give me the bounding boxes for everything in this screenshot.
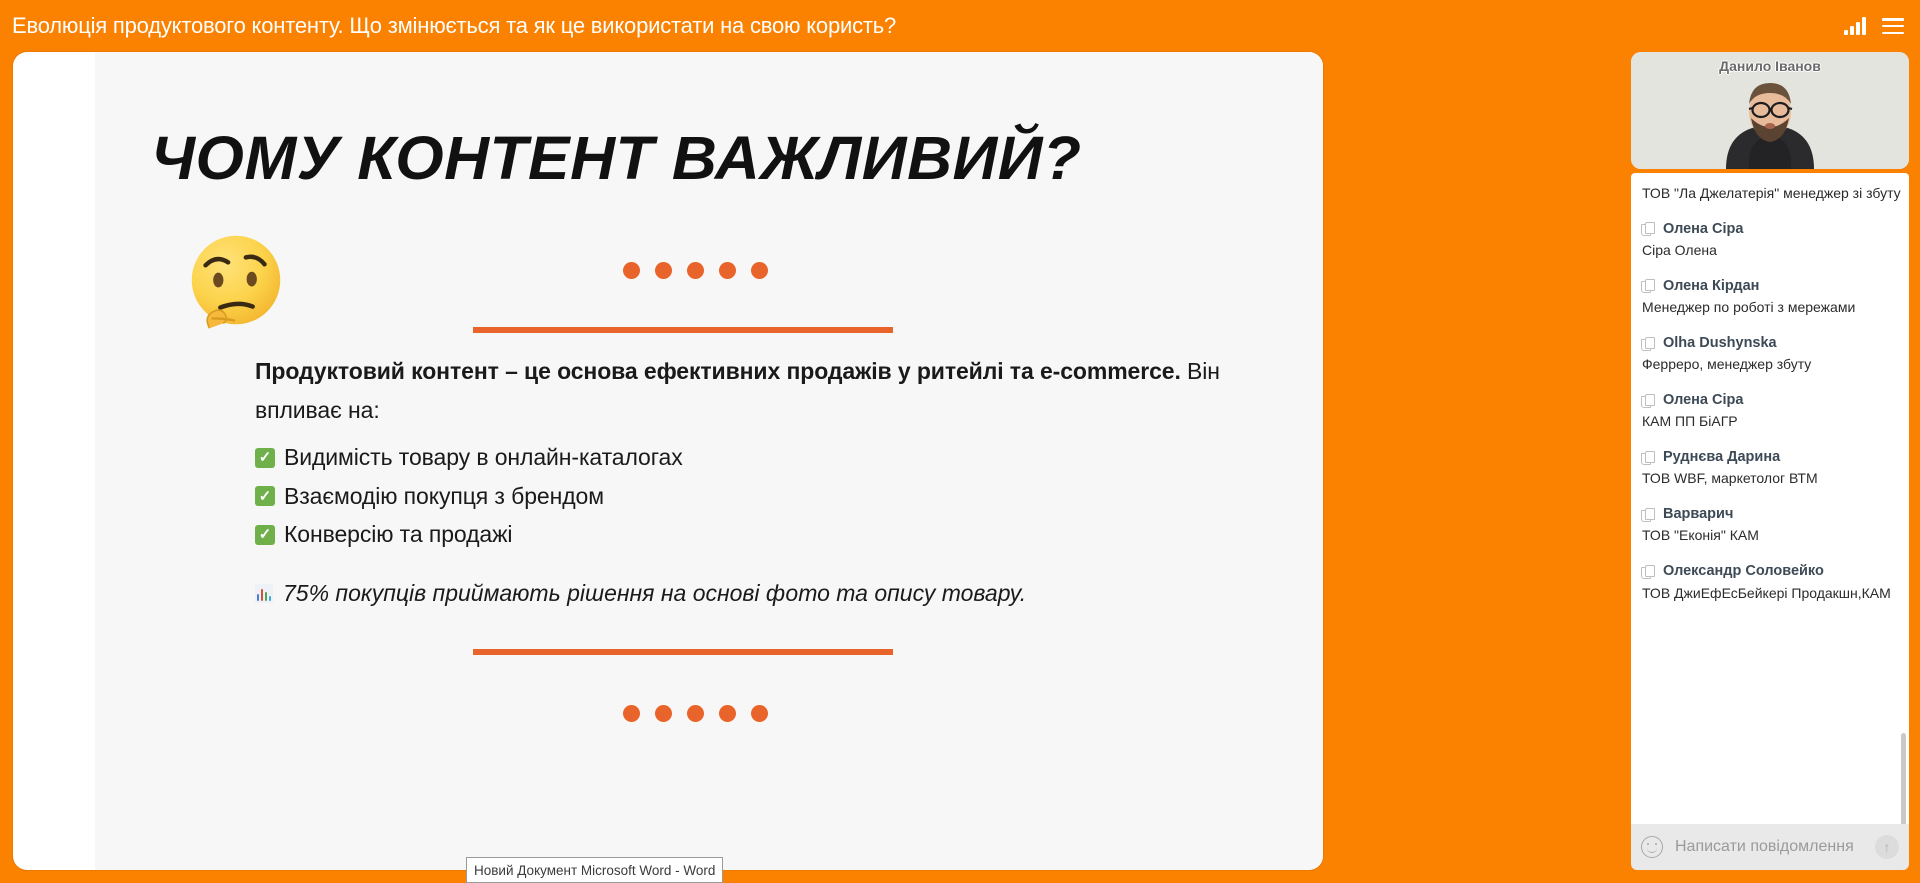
chat-message-header: Олена Сіра — [1641, 221, 1907, 238]
list-item: Олена Кірдан Менеджер по роботі з мережа… — [1641, 278, 1907, 319]
list-item: Олена Сіра Сіра Олена — [1641, 221, 1907, 262]
meeting-title: Еволюція продуктового контенту. Що зміню… — [0, 13, 896, 39]
chat-message-text: Ферреро, менеджер збуту — [1641, 354, 1907, 376]
chat-scrollbar[interactable] — [1901, 733, 1906, 824]
copy-icon[interactable] — [1641, 508, 1654, 522]
chat-message-text: Сіра Олена — [1641, 240, 1907, 262]
list-item: ✓ Взаємодію покупця з брендом — [255, 477, 1255, 516]
chat-author-name: Олена Сіра — [1663, 221, 1743, 238]
chat-message-header: Олександр Соловейко — [1641, 563, 1907, 580]
copy-icon[interactable] — [1641, 565, 1654, 579]
decorative-dots-bottom — [623, 705, 768, 722]
participant-video-tile[interactable]: Данило Іванов — [1631, 52, 1909, 169]
list-item-label: Взаємодію покупця з брендом — [284, 477, 604, 516]
copy-icon[interactable] — [1641, 394, 1654, 408]
slide-lead-bold: Продуктовий контент – це основа ефективн… — [255, 358, 1181, 384]
list-item-label: Видимість товару в онлайн-каталогах — [284, 438, 683, 477]
chat-message-text: ТОВ "Ла Джелатерія" менеджер зі збуту — [1641, 183, 1907, 205]
presentation-stage[interactable]: ЧОМУ КОНТЕНТ ВАЖЛИВИЙ? — [13, 52, 1323, 870]
chat-author-name: Олександр Соловейко — [1663, 563, 1824, 580]
list-item: ✓ Видимість товару в онлайн-каталогах — [255, 438, 1255, 477]
decorative-dots-top — [623, 262, 768, 279]
chat-author-name: Руднєва Дарина — [1663, 449, 1780, 466]
topbar-icon-group — [1844, 17, 1920, 35]
list-item: Олександр Соловейко ТОВ ДжиЕфЕсБейкері П… — [1641, 563, 1907, 604]
list-item: ✓ Конверсію та продажі — [255, 515, 1255, 554]
chat-author-name: Олена Сіра — [1663, 392, 1743, 409]
divider-rule-top — [473, 327, 893, 333]
meeting-top-bar: Еволюція продуктового контенту. Що зміню… — [0, 0, 1920, 52]
divider-rule-bottom — [473, 649, 893, 655]
chat-input[interactable]: Написати повідомлення — [1675, 838, 1863, 856]
list-item: Олена Сіра КАМ ПП БіАГР — [1641, 392, 1907, 433]
list-item: ТОВ "Ла Джелатерія" менеджер зі збуту — [1641, 183, 1907, 205]
chat-message-text: ТОВ "Еконія" КАМ — [1641, 525, 1907, 547]
copy-icon[interactable] — [1641, 337, 1654, 351]
chat-message-header: Olha Dushynska — [1641, 335, 1907, 352]
chat-author-name: Варварич — [1663, 506, 1733, 523]
chat-message-header: Олена Сіра — [1641, 392, 1907, 409]
copy-icon[interactable] — [1641, 279, 1654, 293]
chat-message-text: Менеджер по роботі з мережами — [1641, 297, 1907, 319]
signal-bars-icon[interactable] — [1844, 17, 1866, 35]
hamburger-menu-icon[interactable] — [1882, 18, 1904, 34]
chat-message-text: ТОВ WBF, маркетолог ВТМ — [1641, 468, 1907, 490]
check-icon: ✓ — [255, 486, 275, 506]
thinking-face-emoji — [177, 224, 295, 342]
slide-statistic: 75% покупців приймають рішення на основі… — [255, 580, 1026, 607]
list-item: Olha Dushynska Ферреро, менеджер збуту — [1641, 335, 1907, 376]
check-icon: ✓ — [255, 448, 275, 468]
list-item: Варварич ТОВ "Еконія" КАМ — [1641, 506, 1907, 547]
list-item: Руднєва Дарина ТОВ WBF, маркетолог ВТМ — [1641, 449, 1907, 490]
chat-message-header: Руднєва Дарина — [1641, 449, 1907, 466]
chat-message-text: ТОВ ДжиЕфЕсБейкері Продакшн,КАМ — [1641, 583, 1907, 605]
chat-message-header: Варварич — [1641, 506, 1907, 523]
slide-statistic-text: 75% покупців приймають рішення на основі… — [283, 580, 1026, 607]
check-icon: ✓ — [255, 525, 275, 545]
chat-message-text: КАМ ПП БіАГР — [1641, 411, 1907, 433]
slide-body: Продуктовий контент – це основа ефективн… — [255, 352, 1255, 554]
chat-author-name: Olha Dushynska — [1663, 335, 1777, 352]
slide-title: ЧОМУ КОНТЕНТ ВАЖЛИВИЙ? — [151, 126, 1273, 190]
participant-name-label: Данило Іванов — [1631, 58, 1909, 74]
copy-icon[interactable] — [1641, 222, 1654, 236]
chat-composer[interactable]: Написати повідомлення ↑ — [1631, 824, 1909, 870]
copy-icon[interactable] — [1641, 451, 1654, 465]
smiley-icon[interactable] — [1641, 836, 1663, 858]
slide-canvas: ЧОМУ КОНТЕНТ ВАЖЛИВИЙ? — [95, 52, 1323, 870]
chat-message-list[interactable]: ТОВ "Ла Джелатерія" менеджер зі збуту Ол… — [1631, 173, 1909, 824]
benefit-list: ✓ Видимість товару в онлайн-каталогах ✓ … — [255, 438, 1255, 554]
chat-author-name: Олена Кірдан — [1663, 278, 1759, 295]
chat-message-header: Олена Кірдан — [1641, 278, 1907, 295]
list-item-label: Конверсію та продажі — [284, 515, 512, 554]
send-arrow-icon[interactable]: ↑ — [1875, 835, 1899, 859]
meeting-sidebar: Данило Іванов ТОВ "Ла Джелатерія" менедж… — [1631, 52, 1909, 870]
bar-chart-icon — [255, 584, 273, 603]
taskbar-window-tooltip[interactable]: Новий Документ Microsoft Word - Word — [466, 857, 723, 883]
slide-lead-paragraph: Продуктовий контент – це основа ефективн… — [255, 352, 1255, 430]
